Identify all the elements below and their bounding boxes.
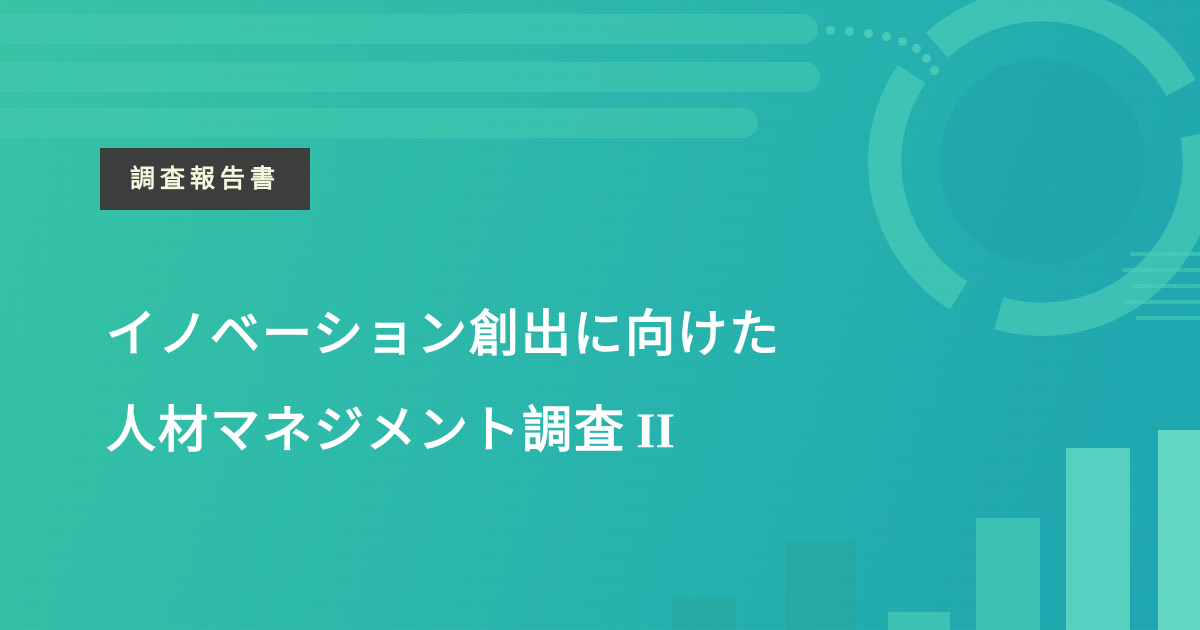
badge-label: 調査報告書	[130, 167, 280, 192]
rule-decor-1	[1130, 252, 1200, 256]
cover-content: 調査報告書 イノベーション創出に向けた 人材マネジメント調査II	[100, 0, 1000, 630]
rule-decor-3	[1132, 284, 1200, 288]
page-title-line-2: 人材マネジメント調査II	[106, 382, 986, 478]
bar-decor-5	[1066, 448, 1130, 630]
report-cover-banner: 調査報告書 イノベーション創出に向けた 人材マネジメント調査II	[0, 0, 1200, 630]
bar-decor-6	[1158, 430, 1200, 630]
page-title: イノベーション創出に向けた 人材マネジメント調査II	[106, 286, 986, 478]
rule-decor-2	[1122, 268, 1200, 272]
status-badge: 調査報告書	[100, 148, 310, 210]
rule-decor-5	[1136, 316, 1200, 320]
page-title-numeral: II	[626, 402, 675, 458]
page-title-line-2-text: 人材マネジメント調査	[106, 402, 626, 458]
page-title-line-1: イノベーション創出に向けた	[106, 286, 986, 382]
rule-decor-4	[1124, 300, 1200, 304]
